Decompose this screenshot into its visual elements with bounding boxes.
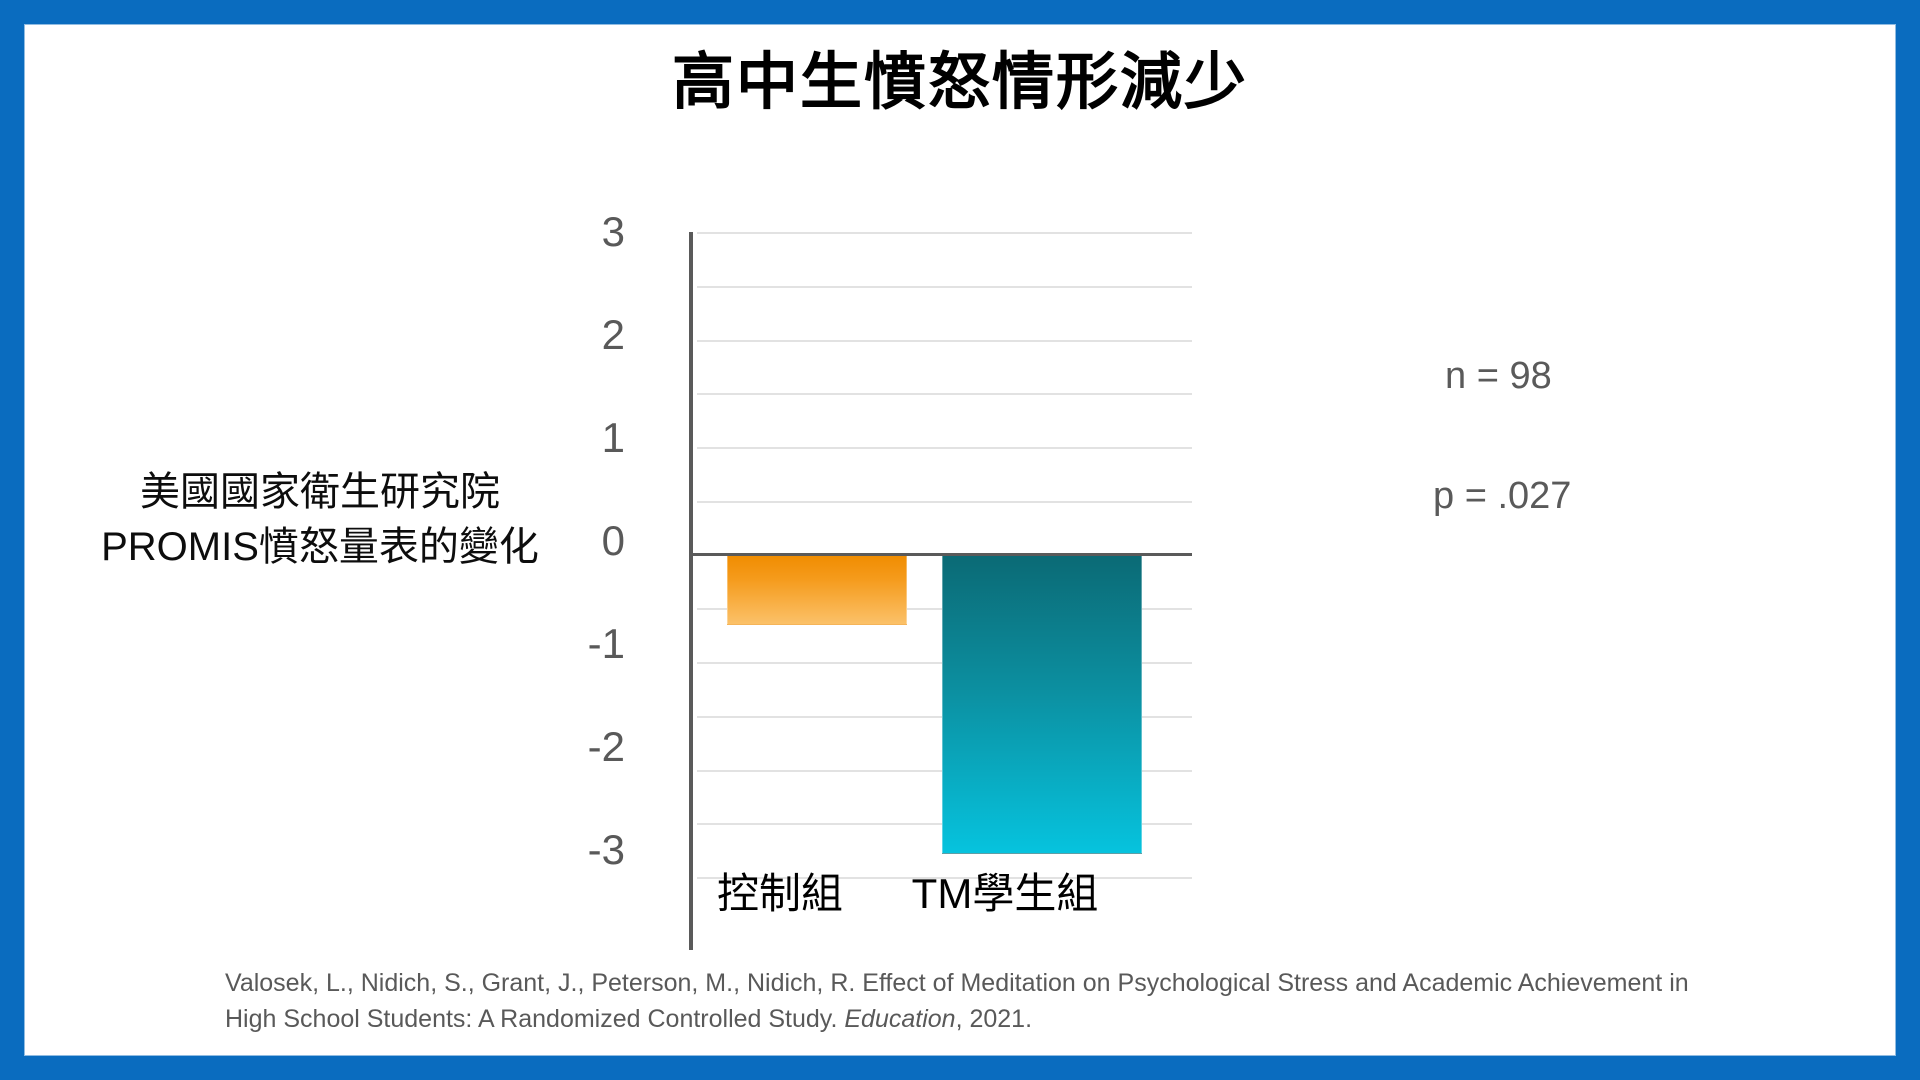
y-tick-label-neg-2: -2 (545, 726, 625, 768)
bar-tm-students-group[interactable] (942, 555, 1142, 854)
gridline-1 (697, 447, 1192, 449)
gridline-3 (697, 232, 1192, 234)
y-axis-caption-line-2: PROMIS憤怒量表的變化 (95, 520, 545, 575)
gridline-2.5 (697, 286, 1192, 288)
bar-chart: 3 2 1 0 -1 -2 -3 (585, 205, 1245, 925)
slide-blue-border: 高中生憤怒情形減少 美國國家衛生研究院 PROMIS憤怒量表的變化 3 2 1 … (0, 0, 1920, 1080)
y-tick-label-2: 2 (545, 314, 625, 356)
y-tick-label-3: 3 (545, 211, 625, 253)
slide-canvas: 高中生憤怒情形減少 美國國家衛生研究院 PROMIS憤怒量表的變化 3 2 1 … (25, 25, 1895, 1055)
gridline-2 (697, 340, 1192, 342)
plot-area (690, 232, 1192, 877)
citation-part-2: , 2021. (956, 1005, 1032, 1033)
y-tick-label-neg-3: -3 (545, 829, 625, 871)
y-tick-label-0: 0 (545, 520, 625, 562)
zero-baseline (690, 553, 1192, 556)
y-tick-label-1: 1 (545, 417, 625, 459)
gridline-1.5 (697, 393, 1192, 395)
gridline-0.5 (697, 501, 1192, 503)
p-value-annotation: p = .027 (1433, 475, 1571, 518)
page-title: 高中生憤怒情形減少 (25, 47, 1895, 118)
y-axis-caption: 美國國家衛生研究院 PROMIS憤怒量表的變化 (95, 465, 545, 575)
y-axis-caption-line-1: 美國國家衛生研究院 (95, 465, 545, 520)
sample-size-annotation: n = 98 (1445, 355, 1552, 398)
y-tick-label-neg-1: -1 (545, 623, 625, 665)
x-category-label-control: 控制組 (690, 860, 870, 921)
citation-text: Valosek, L., Nidich, S., Grant, J., Pete… (225, 965, 1715, 1038)
bar-control-group[interactable] (727, 555, 907, 625)
citation-journal: Education (844, 1005, 955, 1033)
x-category-label-tm: TM學生組 (885, 860, 1125, 921)
